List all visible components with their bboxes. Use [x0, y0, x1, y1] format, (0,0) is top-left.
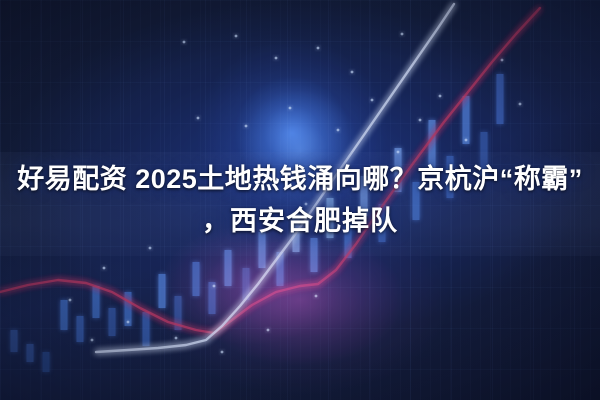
- particle-dot: [289, 107, 292, 110]
- particle-dot: [465, 139, 468, 142]
- candle-body: [11, 330, 18, 352]
- particle-dot: [149, 247, 152, 250]
- particle-dot: [213, 285, 216, 288]
- candle-body: [77, 316, 84, 342]
- particle-dot: [419, 119, 422, 122]
- particle-dot: [275, 57, 278, 60]
- particle-dot: [501, 59, 504, 62]
- candle-body: [209, 282, 216, 314]
- particle-dot: [351, 71, 354, 74]
- particle-dot: [337, 129, 340, 132]
- particle-dot: [221, 351, 224, 354]
- particle-dot: [397, 151, 400, 154]
- candle-body: [463, 96, 470, 144]
- particle-dot: [69, 299, 72, 302]
- candle-body: [277, 252, 284, 286]
- candle-body: [159, 274, 166, 308]
- candle-body: [243, 268, 250, 300]
- candle-body: [27, 344, 34, 362]
- candle-body: [225, 250, 232, 286]
- particle-dot: [197, 117, 200, 120]
- particle-dot: [183, 41, 186, 44]
- particle-dot: [245, 125, 248, 128]
- particle-dot: [439, 95, 442, 98]
- candle-body: [311, 238, 318, 272]
- candle-body: [193, 262, 200, 296]
- particle-dot: [127, 321, 130, 324]
- candle-body: [109, 308, 116, 336]
- candle-body: [175, 296, 182, 330]
- particle-dot: [315, 295, 318, 298]
- candle-body: [143, 312, 150, 346]
- particle-dot: [235, 35, 238, 38]
- particle-dot: [267, 329, 270, 332]
- candle-body: [125, 292, 132, 326]
- headline-line-2: ，西安合肥掉队: [0, 200, 600, 242]
- particle-dot: [401, 33, 404, 36]
- page-title: 好易配资 2025土地热钱涌向哪？京杭沪“称霸” ，西安合肥掉队: [0, 158, 600, 242]
- banner-image: 好易配资 2025土地热钱涌向哪？京杭沪“称霸” ，西安合肥掉队: [0, 0, 600, 400]
- candle-body: [497, 74, 504, 124]
- candle-body: [61, 300, 68, 330]
- particle-dot: [519, 103, 522, 106]
- candle-body: [93, 286, 100, 318]
- particle-dot: [371, 99, 374, 102]
- candle-body: [43, 352, 50, 372]
- particle-dot: [103, 267, 106, 270]
- particle-dot: [91, 339, 94, 342]
- particle-dot: [317, 47, 320, 50]
- headline-line-1: 好易配资 2025土地热钱涌向哪？京杭沪“称霸”: [0, 158, 600, 200]
- particle-dot: [175, 337, 178, 340]
